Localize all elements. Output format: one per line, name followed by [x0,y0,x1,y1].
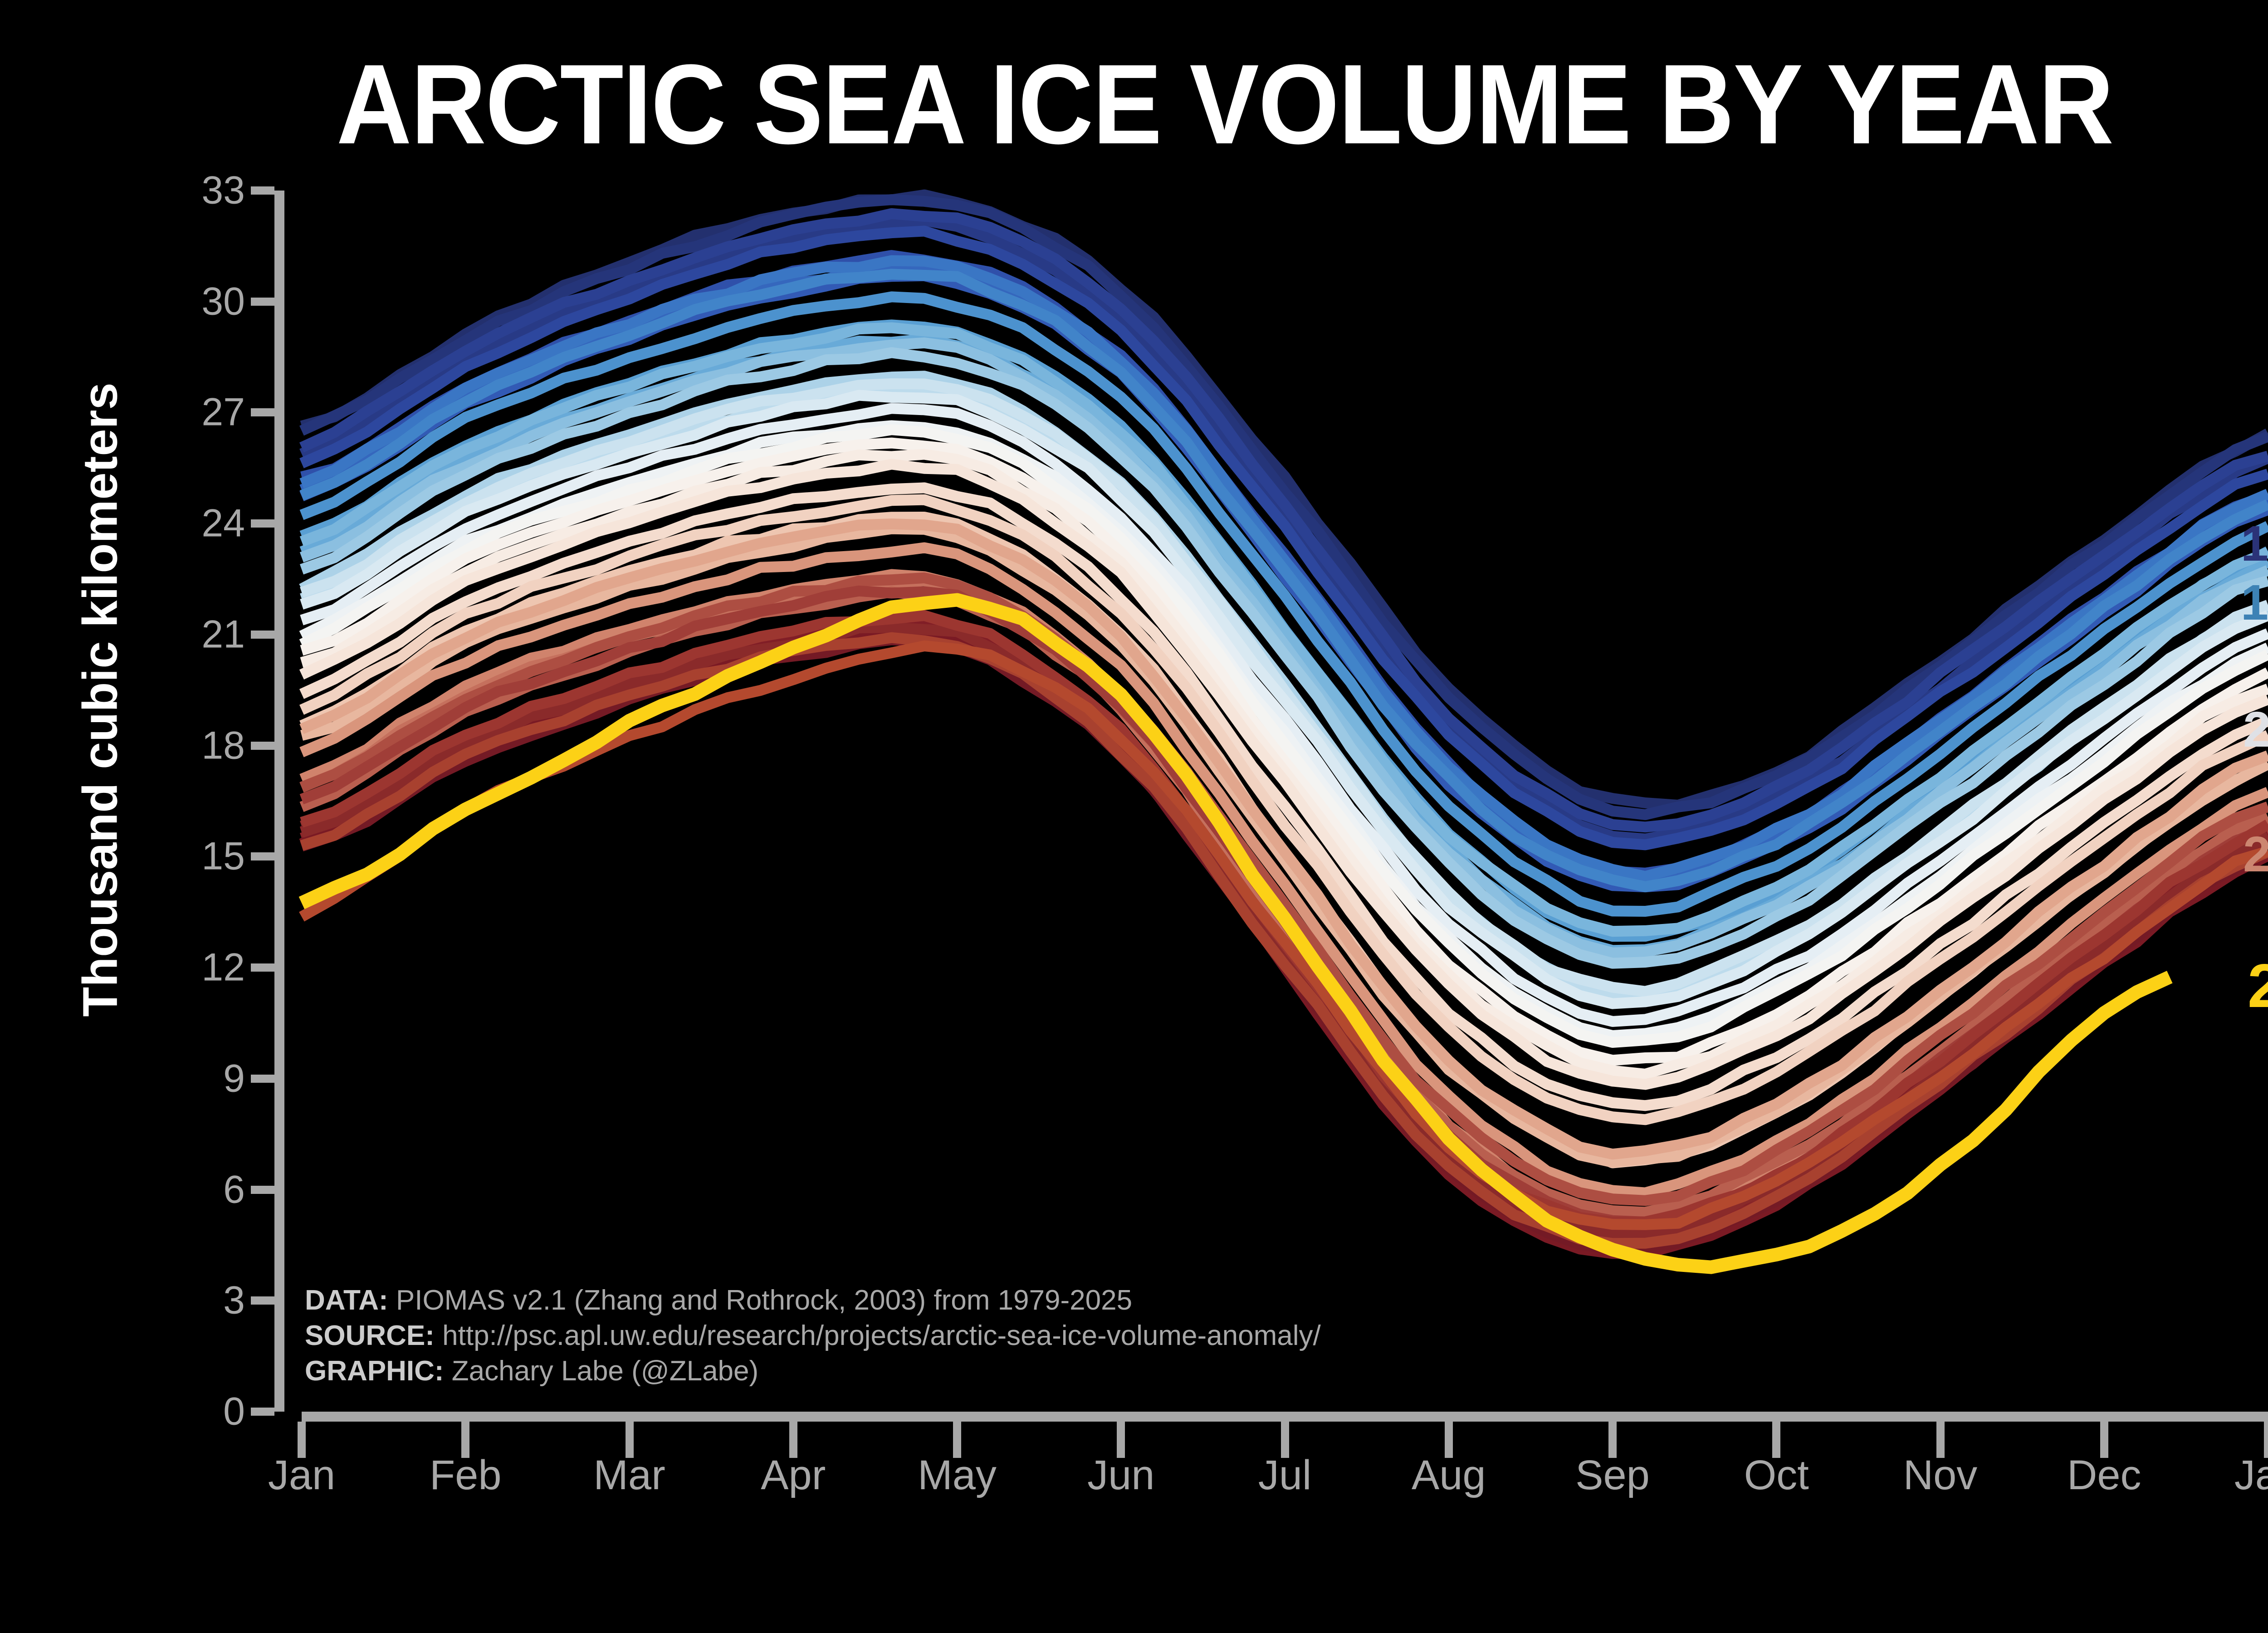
footer-data-label: DATA: [305,1285,388,1316]
legend-label-1990s: 1990s [2241,574,2268,631]
footer-credits: DATA: PIOMAS v2.1 (Zhang and Rothrock, 2… [305,1283,1321,1389]
series-lines [302,195,2268,1267]
footer-graphic-text: Zachary Labe (@ZLabe) [444,1355,759,1387]
legend-label-2025: 2025 [2248,950,2268,1021]
legend-label-1980s: 1980s [2241,515,2268,572]
chart-canvas: ARCTIC SEA ICE VOLUME BY YEAR Thousand c… [0,0,2268,1633]
footer-source-label: SOURCE: [305,1320,435,1351]
footer-source-row: SOURCE: http://psc.apl.uw.edu/research/p… [305,1318,1321,1354]
legend-label-2000s: 2000s [2243,701,2268,758]
footer-data-text: PIOMAS v2.1 (Zhang and Rothrock, 2003) f… [388,1285,1132,1316]
footer-graphic-label: GRAPHIC: [305,1355,444,1387]
footer-data-row: DATA: PIOMAS v2.1 (Zhang and Rothrock, 2… [305,1283,1321,1318]
footer-graphic-row: GRAPHIC: Zachary Labe (@ZLabe) [305,1354,1321,1389]
legend-label-2010s: 2010s [2243,826,2268,883]
footer-source-text: http://psc.apl.uw.edu/research/projects/… [435,1320,1321,1351]
